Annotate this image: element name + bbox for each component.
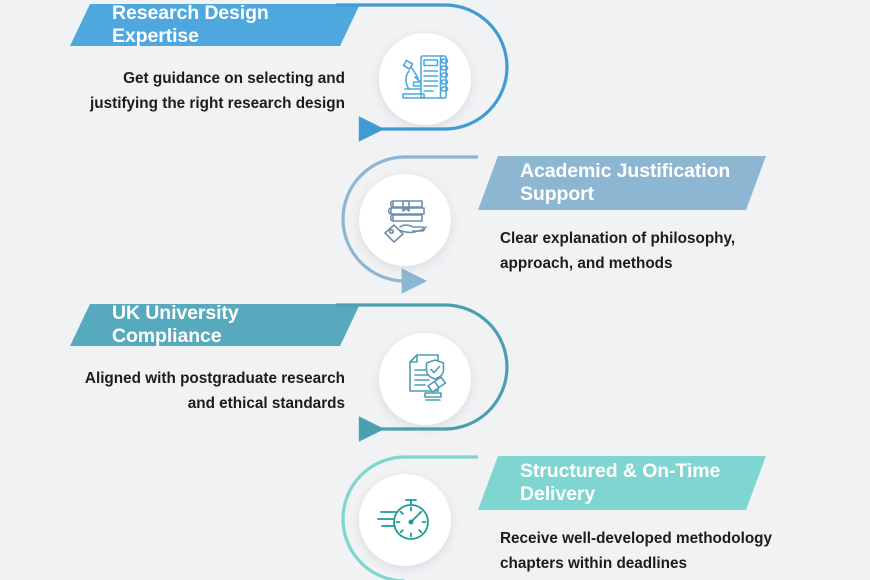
- step-row-1: Research Design Expertise Get guidance o…: [0, 0, 870, 150]
- stopwatch-speed-icon: [377, 492, 433, 548]
- step-icon-circle-2: [359, 174, 451, 266]
- step-banner-3[interactable]: UK University Compliance: [70, 304, 360, 346]
- step-icon-circle-1: [379, 33, 471, 125]
- step-row-4: Structured & On-Time Delivery Receive we…: [0, 450, 870, 580]
- step-icon-circle-3: [379, 333, 471, 425]
- step-banner-2[interactable]: Academic Justification Support: [478, 156, 766, 210]
- step-title-2: Academic Justification Support: [520, 160, 740, 206]
- step-description-4: Receive well-developed methodology chapt…: [500, 526, 830, 576]
- step-title-3: UK University Compliance: [112, 302, 334, 348]
- step-row-3: UK University Compliance Aligned with po…: [0, 300, 870, 450]
- step-icon-circle-4: [359, 474, 451, 566]
- hand-books-icon: [377, 192, 433, 248]
- step-banner-1[interactable]: Research Design Expertise: [70, 4, 360, 46]
- step-row-2: Academic Justification Support Clear exp…: [0, 150, 870, 300]
- step-title-1: Research Design Expertise: [112, 2, 334, 48]
- step-banner-4[interactable]: Structured & On-Time Delivery: [478, 456, 766, 510]
- microscope-notebook-icon: [397, 51, 453, 107]
- document-shield-gavel-icon: [397, 351, 453, 407]
- step-description-1: Get guidance on selecting and justifying…: [40, 66, 345, 116]
- infographic-stage: Research Design Expertise Get guidance o…: [0, 0, 870, 580]
- step-title-4: Structured & On-Time Delivery: [520, 460, 740, 506]
- step-description-2: Clear explanation of philosophy, approac…: [500, 226, 830, 276]
- step-description-3: Aligned with postgraduate research and e…: [40, 366, 345, 416]
